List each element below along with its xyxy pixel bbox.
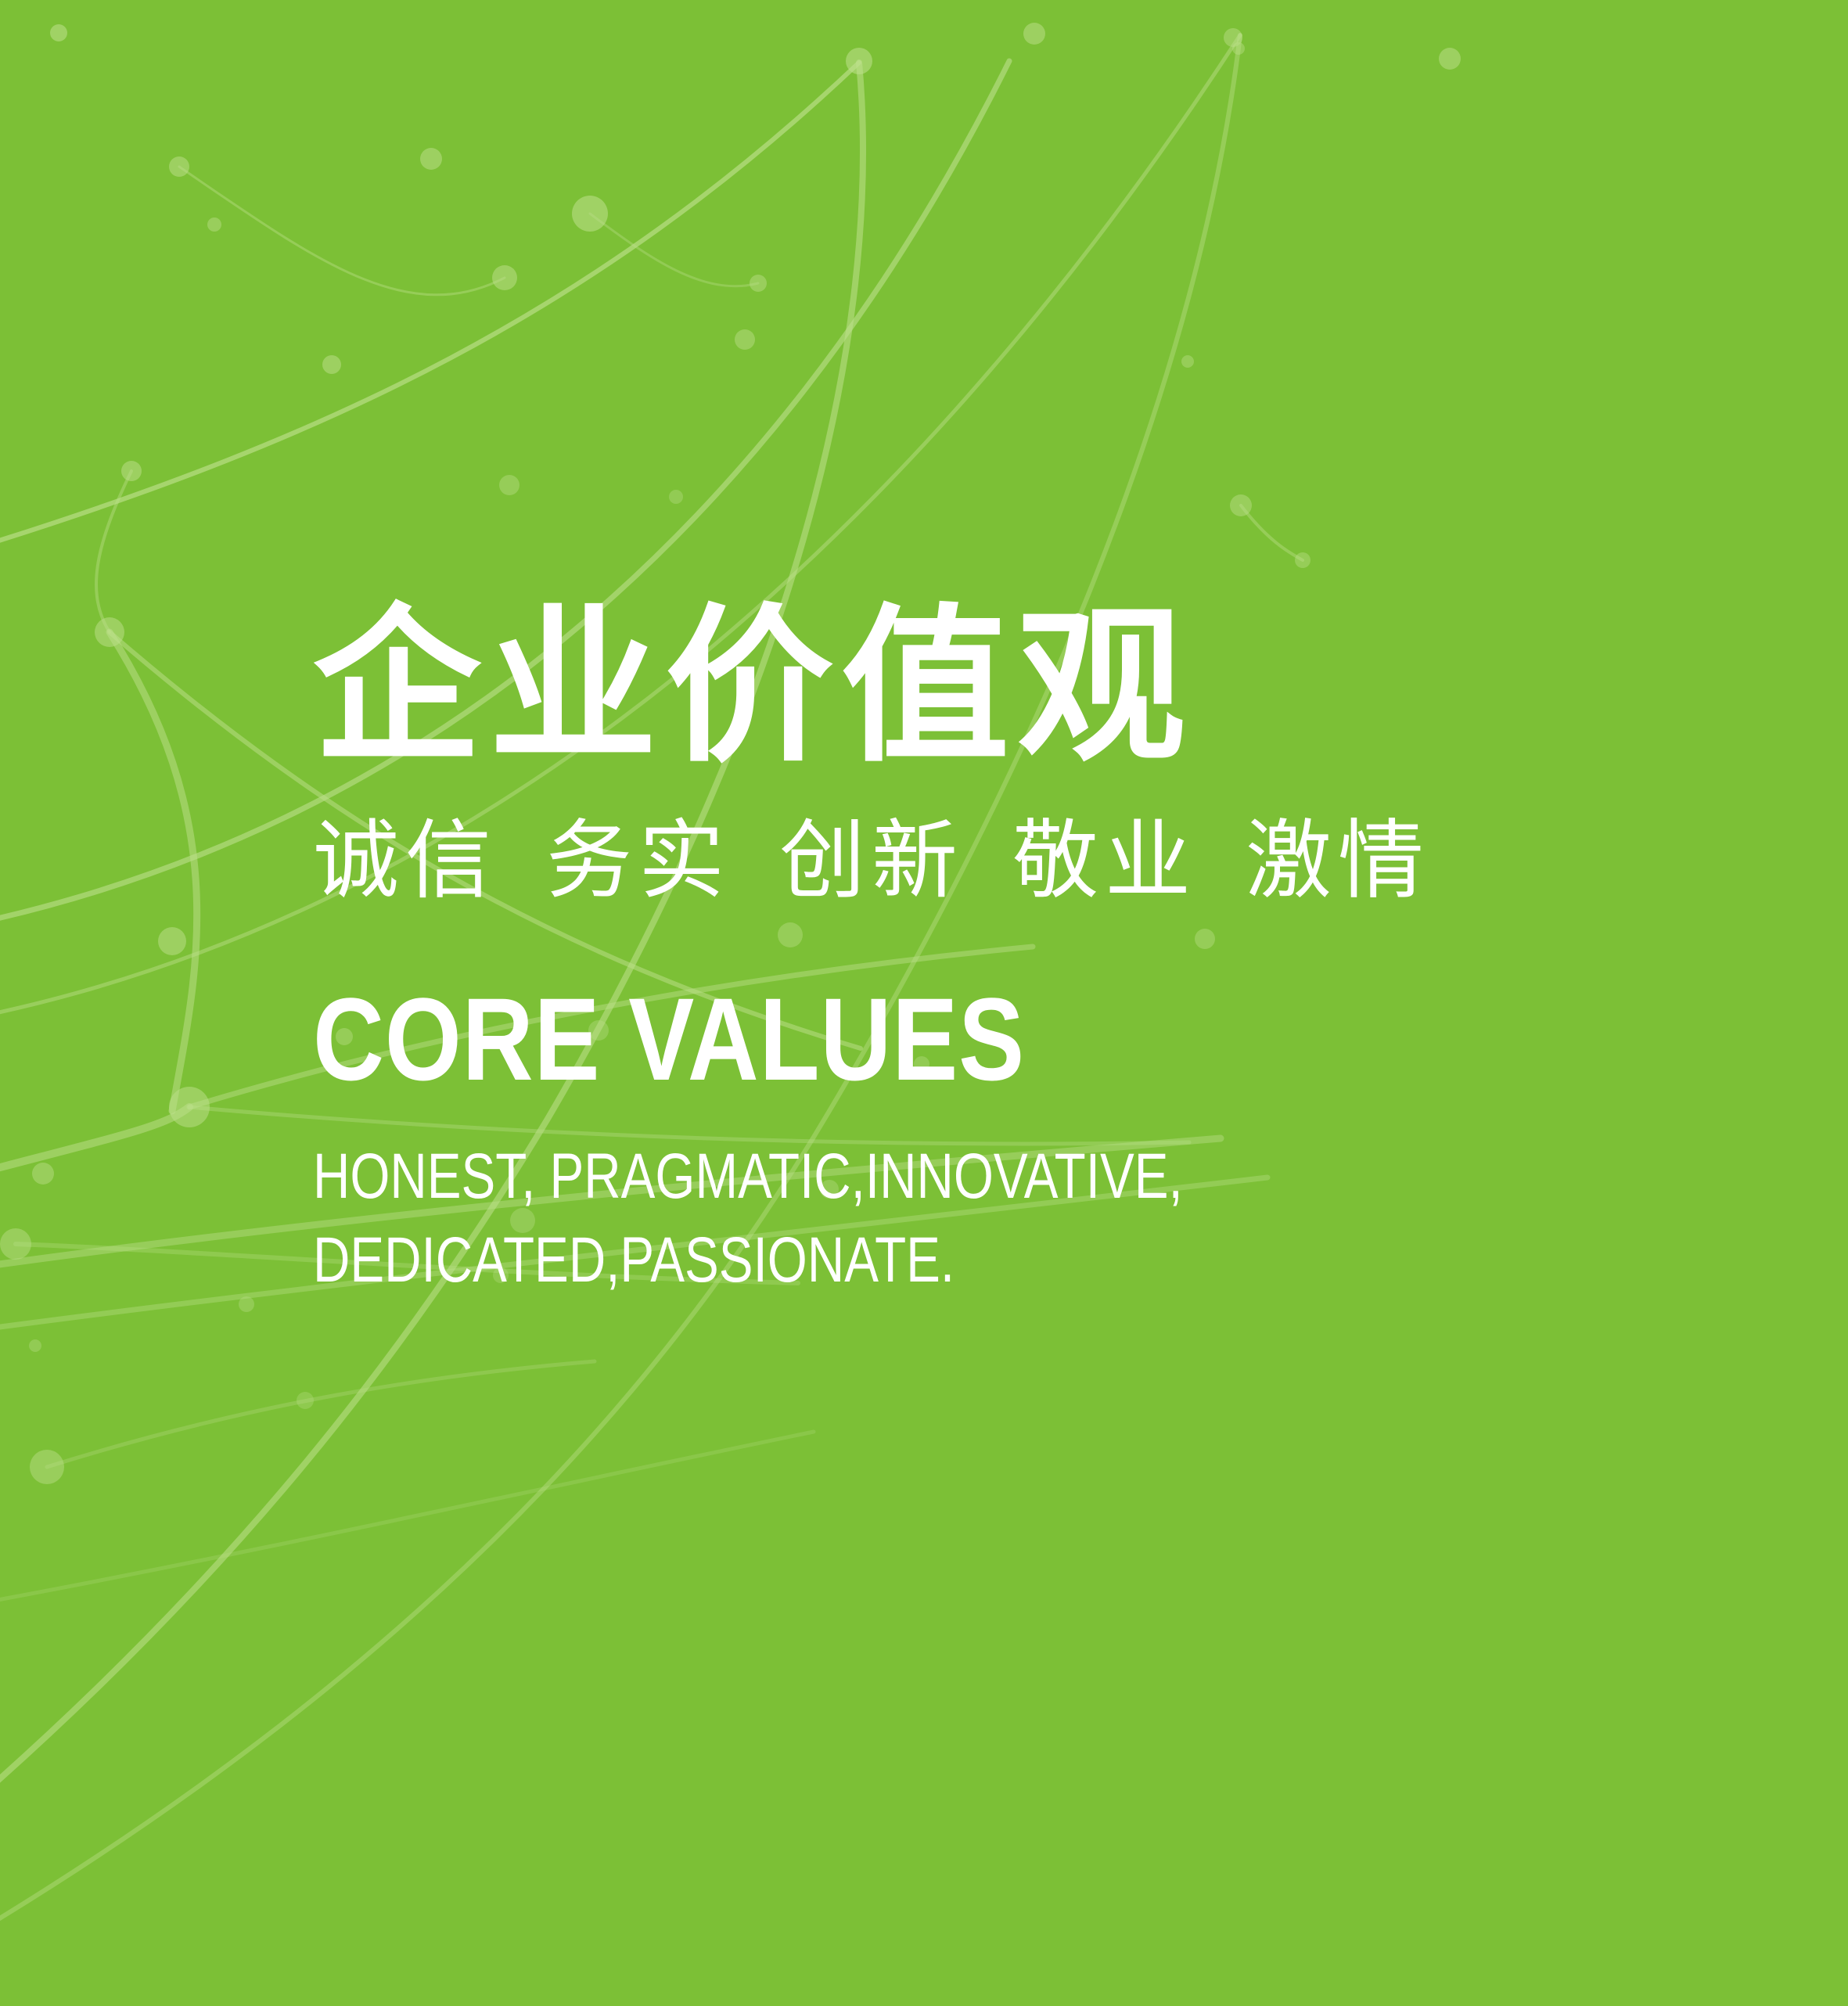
en-subtitle-line-2: DEDICATED,PASSIONATE.	[313, 1219, 1502, 1303]
cn-value-word-1: 诚信	[313, 811, 498, 911]
en-subtitle-line-1: HONEST, PRAGMATIC,INNOVATIVE,	[313, 1135, 1502, 1219]
decor-node	[669, 490, 683, 504]
decor-node	[169, 1087, 210, 1127]
decor-node	[1295, 552, 1310, 568]
decor-node	[239, 1296, 254, 1312]
decor-node	[1181, 355, 1194, 368]
decor-node	[1224, 28, 1242, 47]
decor-node	[207, 217, 221, 232]
decor-node	[29, 1339, 41, 1352]
content-block: 企业价值观 诚信务实创新敬业激情 CORE VALUES HONEST, PRA…	[313, 602, 1799, 1302]
subtitle-chinese: 诚信务实创新敬业激情	[313, 818, 1799, 904]
core-values-poster: 企业价值观 诚信务实创新敬业激情 CORE VALUES HONEST, PRA…	[0, 0, 1848, 2006]
decor-node	[121, 461, 142, 481]
decor-node	[0, 1228, 31, 1260]
decor-node	[1230, 494, 1252, 516]
decor-node	[1439, 48, 1461, 70]
decor-node	[50, 24, 67, 41]
decor-node	[735, 329, 755, 350]
cn-value-word-2: 务实	[546, 811, 731, 911]
decor-node	[95, 617, 124, 647]
decor-node	[492, 265, 517, 290]
cn-value-word-5: 激情	[1246, 811, 1430, 911]
subtitle-english: HONEST, PRAGMATIC,INNOVATIVE, DEDICATED,…	[313, 1135, 1502, 1302]
decor-node	[572, 196, 608, 232]
decor-node	[297, 1392, 314, 1409]
decor-node	[158, 927, 186, 955]
decor-node	[322, 355, 341, 374]
cn-value-word-4: 敬业	[1012, 811, 1197, 911]
decor-node	[846, 48, 872, 74]
decor-node	[1232, 42, 1245, 55]
cn-value-word-3: 创新	[779, 811, 964, 911]
decor-node	[499, 475, 520, 495]
decor-node	[30, 1450, 64, 1484]
page-title-chinese: 企业价值观	[313, 602, 1799, 771]
decor-node	[750, 275, 767, 292]
decor-node	[420, 148, 442, 170]
decor-node	[1023, 23, 1045, 45]
page-title-english: CORE VALUES	[313, 980, 1562, 1098]
decor-node	[32, 1163, 54, 1185]
decor-node	[169, 156, 189, 177]
